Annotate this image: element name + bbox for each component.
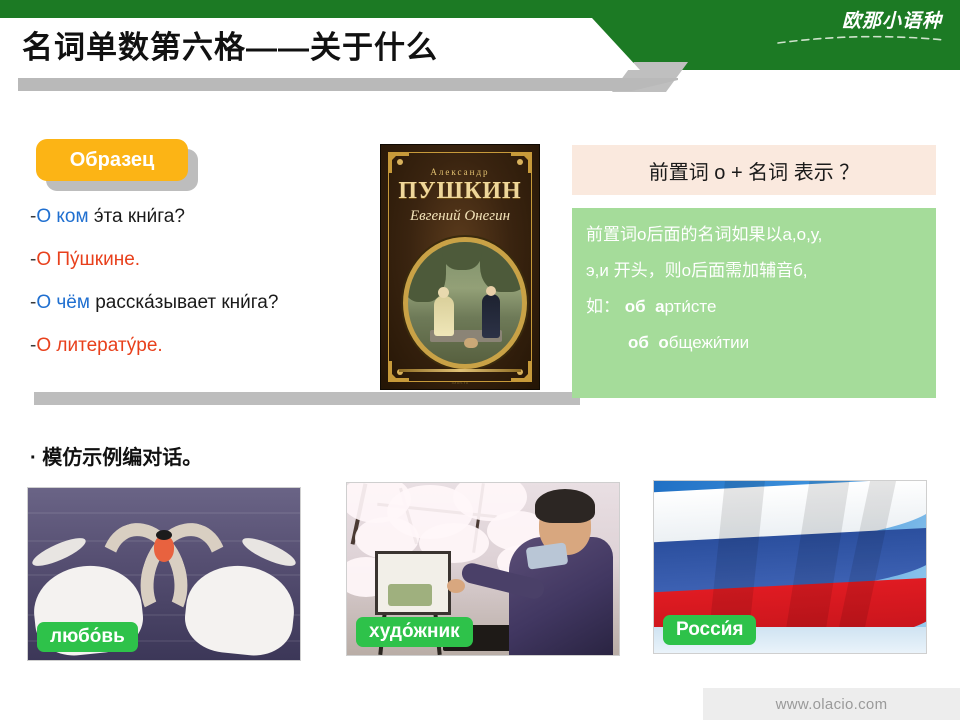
book-title: ПУШКИН [381,178,539,205]
book-bottom-ornament-bar [399,369,521,372]
dashed-swoosh-icon [776,34,946,46]
task-bullet: · [30,447,37,469]
photo-card-painter: худо́жник [346,482,620,656]
rule-line-1: 前置词о后面的名词如果以а,о,у, [586,220,922,250]
illustration-gentleman [482,294,500,338]
rule-example-2-initial: о [658,333,668,352]
illustration-lady [434,296,454,336]
book-author: Александр [381,167,539,177]
rule-example-1-initial: а [655,297,664,316]
painter-canvas [375,551,451,615]
dialogue-highlight-2: О Пу́шкине. [36,249,140,270]
rule-example-line-1: 如： об арти́сте [586,292,922,322]
task-instruction: · 模仿示例编对话。 [30,441,202,470]
photo-card-swans: любо́вь [27,487,301,661]
task-text: 模仿示例编对话。 [42,447,202,469]
header-chevron-shadow-bar [18,78,678,91]
rule-line-2: э,и 开头，则о后面需加辅音б, [586,256,922,286]
book-credit: ozon.ru [381,380,539,385]
rule-example-2-prefix: об [628,333,649,352]
photo-caption-rossiya: Росси́я [663,615,756,645]
book-subtitle: Евгений Онегин [381,208,539,225]
sample-badge: Образец [36,139,188,181]
rule-example-1-prefix: об [625,297,646,316]
painter-hair [535,489,595,523]
slide-root: 名词单数第六格——关于什么 欧那小语种 Образец -О ком э́та … [0,0,960,720]
rule-question-box: 前置词 о + 名词 表示 ？ [572,145,936,195]
dialogue-highlight-3: О чём [36,292,90,313]
pushkin-book-cover-image: Александр ПУШКИН Евгений Онегин ozon.ru [380,144,540,390]
brand-logo: 欧那小语种 [842,6,942,33]
rule-example-2-rest: бщежи́тии [669,333,749,352]
footer-website-url: www.olacio.com [703,688,960,720]
rule-green-box: 前置词о后面的名词如果以а,о,у, э,и 开头，则о后面需加辅音б, 如： … [572,208,936,398]
painter-photo-credit [613,647,615,652]
painter-hand [447,579,465,593]
photo-caption-khudozhnik: худо́жник [356,617,473,647]
swan-beaks-heart-point [154,536,174,562]
dialogue-rest-3: расска́зывает кни́га? [90,292,279,313]
page-title: 名词单数第六格——关于什么 [22,26,582,70]
book-oval-illustration [403,237,527,369]
rule-example-line-2: об общежи́тии [586,328,922,358]
illustration-gentleman-head [486,286,496,296]
illustration-dog [464,338,478,348]
dialogue-highlight-1: О ком [36,206,88,227]
rule-example-1-rest: рти́сте [665,297,717,316]
photo-caption-lyubov: любо́вь [37,622,138,652]
illustration-lady-head [438,287,449,298]
dialogue-highlight-4: О литерату́ре. [36,335,162,356]
painting-on-canvas [388,584,432,606]
photo-card-russia-flag: Росси́я [653,480,927,654]
rule-example-label: 如： [586,297,620,316]
sample-panel-shadow [34,392,580,405]
dialogue-rest-1: э́та кни́га? [89,206,185,227]
